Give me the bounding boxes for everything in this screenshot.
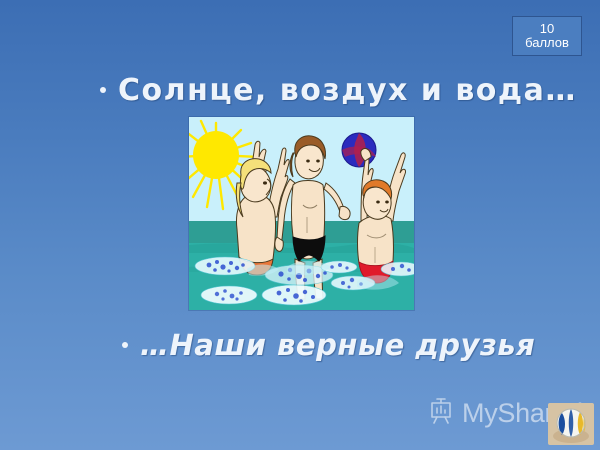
presentation-chart-icon	[426, 396, 456, 430]
score-badge: 10 баллов	[512, 16, 582, 56]
bullet-dot-icon	[100, 87, 106, 93]
illustration-swimmers	[189, 117, 414, 310]
bullet-text-bottom: …Наши верные друзья	[140, 328, 535, 362]
slide-canvas: 10 баллов Солнце, воздух и вода…	[0, 0, 600, 450]
bullet-text-top: Солнце, воздух и вода…	[118, 73, 577, 108]
score-badge-value: 10	[540, 22, 554, 36]
bullet-line-top: Солнце, воздух и вода…	[100, 70, 577, 110]
beach-ball-thumbnail	[548, 403, 594, 445]
bullet-dot-icon	[122, 342, 128, 348]
ball	[342, 133, 376, 167]
bullet-line-bottom: …Наши верные друзья	[122, 325, 535, 365]
score-badge-unit: баллов	[525, 36, 569, 50]
